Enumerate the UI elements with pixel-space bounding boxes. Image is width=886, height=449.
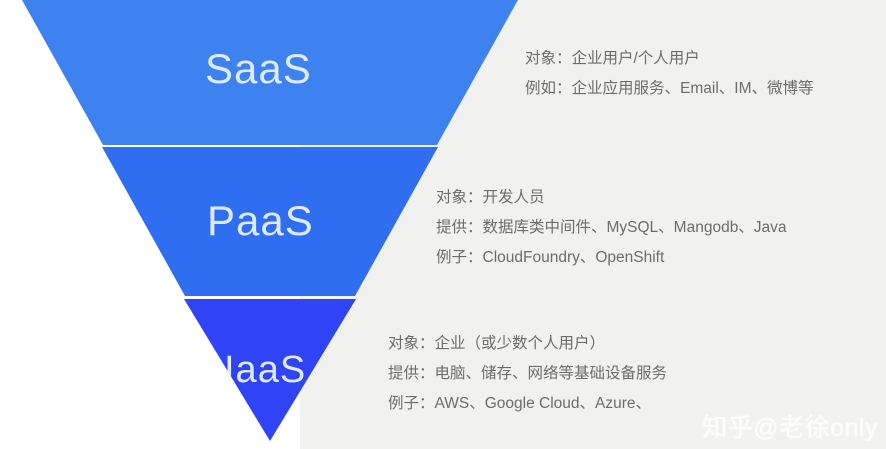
description-saas-line-1: 对象：企业用户/个人用户 bbox=[525, 44, 813, 74]
diagram-canvas: SaaS PaaS IaaS 对象：企业用户/个人用户 例如：企业应用服务、Em… bbox=[0, 0, 886, 449]
description-iaas: 对象：企业（或少数个人用户） 提供：电脑、储存、网络等基础设备服务 例子：AWS… bbox=[388, 329, 667, 419]
description-paas-line-1: 对象：开发人员 bbox=[436, 183, 787, 213]
pyramid-band-saas-label: SaaS bbox=[205, 48, 312, 90]
description-iaas-line-2: 提供：电脑、储存、网络等基础设备服务 bbox=[388, 359, 667, 389]
description-paas-line-3: 例子：CloudFoundry、OpenShift bbox=[436, 243, 787, 273]
description-saas-line-2: 例如：企业应用服务、Email、IM、微博等 bbox=[525, 74, 813, 104]
pyramid-band-saas[interactable]: SaaS bbox=[0, 0, 540, 145]
description-iaas-line-1: 对象：企业（或少数个人用户） bbox=[388, 329, 667, 359]
description-saas: 对象：企业用户/个人用户 例如：企业应用服务、Email、IM、微博等 bbox=[525, 44, 813, 104]
description-paas: 对象：开发人员 提供：数据库类中间件、MySQL、Mangodb、Java 例子… bbox=[436, 183, 787, 273]
pyramid-band-iaas-label: IaaS bbox=[224, 351, 306, 389]
pyramid-band-paas-label: PaaS bbox=[207, 200, 314, 242]
description-iaas-line-3: 例子：AWS、Google Cloud、Azure、 bbox=[388, 389, 667, 419]
description-paas-line-2: 提供：数据库类中间件、MySQL、Mangodb、Java bbox=[436, 213, 787, 243]
watermark: 知乎@老徐only bbox=[702, 416, 878, 441]
